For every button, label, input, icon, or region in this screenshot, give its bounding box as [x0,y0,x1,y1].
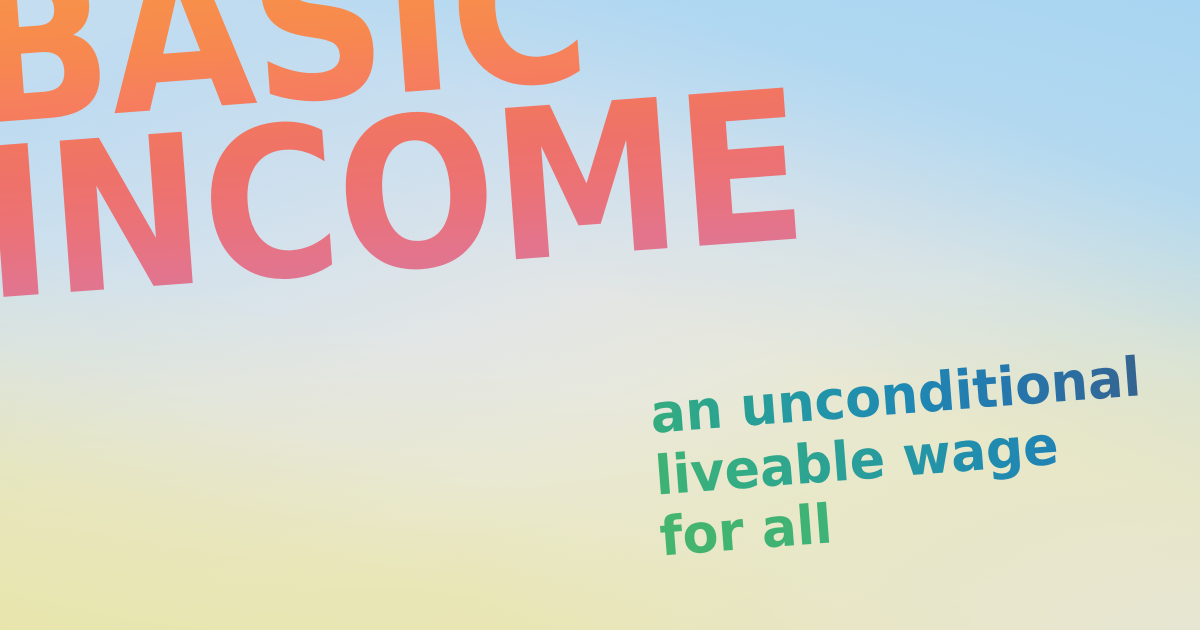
subtitle-block: an unconditional liveable wage for all [648,345,1167,568]
headline-line-income: INCOME [0,80,809,315]
headline-block: BASIC INCOME [0,0,900,314]
poster-canvas: BASIC INCOME an unconditional liveable w… [0,0,1200,630]
